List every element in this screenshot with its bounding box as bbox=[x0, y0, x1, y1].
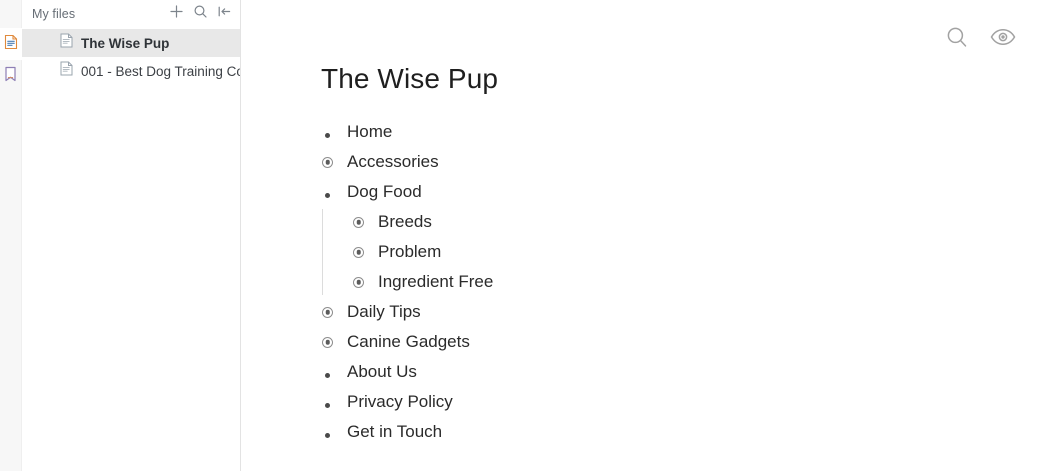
file-icon bbox=[60, 61, 73, 81]
eye-icon bbox=[990, 27, 1016, 52]
bullet-ring-icon bbox=[321, 307, 347, 318]
list-item-label: Problem bbox=[378, 237, 441, 267]
file-name: 001 - Best Dog Training Co bbox=[81, 64, 240, 79]
bullet-dot-icon bbox=[321, 133, 347, 138]
plus-icon bbox=[169, 4, 184, 24]
collapse-panel-icon bbox=[217, 4, 232, 24]
list-item-label: Home bbox=[347, 117, 392, 147]
sidebar-actions bbox=[168, 6, 232, 22]
bullet-dot-icon bbox=[321, 373, 347, 378]
collapse-sidebar-button[interactable] bbox=[216, 6, 232, 22]
list-item[interactable]: Home bbox=[321, 117, 1060, 147]
list-item-label: Accessories bbox=[347, 147, 439, 177]
list-item-label: Privacy Policy bbox=[347, 387, 453, 417]
bullet-dot-icon bbox=[321, 403, 347, 408]
list-item[interactable]: Breeds bbox=[352, 207, 1060, 237]
search-icon bbox=[193, 4, 208, 24]
search-icon bbox=[945, 25, 969, 54]
file-name: The Wise Pup bbox=[81, 36, 169, 51]
list-item-label: Get in Touch bbox=[347, 417, 442, 447]
document-body: The Wise Pup Home Accessories Dog Food bbox=[241, 0, 1060, 447]
bullet-ring-icon bbox=[352, 217, 378, 228]
file-icon bbox=[60, 33, 73, 53]
list-item[interactable]: Accessories bbox=[321, 147, 1060, 177]
search-files-button[interactable] bbox=[192, 6, 208, 22]
bullet-ring-icon bbox=[321, 337, 347, 348]
list-item-label: Dog Food bbox=[347, 177, 422, 207]
icon-rail bbox=[0, 0, 22, 471]
outline-list: Home Accessories Dog Food Breeds bbox=[321, 117, 1060, 447]
list-item[interactable]: Privacy Policy bbox=[321, 387, 1060, 417]
file-list: The Wise Pup 001 - Best Dog Training Co bbox=[22, 27, 240, 85]
bullet-ring-icon bbox=[321, 157, 347, 168]
list-item-label: Ingredient Free bbox=[378, 267, 493, 297]
file-item-the-wise-pup[interactable]: The Wise Pup bbox=[22, 29, 240, 57]
page-title: The Wise Pup bbox=[321, 62, 1060, 96]
list-item-label: Canine Gadgets bbox=[347, 327, 470, 357]
rail-item-files[interactable] bbox=[0, 28, 22, 60]
list-item[interactable]: Ingredient Free bbox=[352, 267, 1060, 297]
nested-outline-list: Breeds Problem Ingredient Free bbox=[321, 207, 1060, 297]
search-document-button[interactable] bbox=[944, 26, 970, 52]
bullet-ring-icon bbox=[352, 247, 378, 258]
app-window: My files bbox=[0, 0, 1060, 471]
editor-toolbar bbox=[944, 26, 1016, 52]
document-icon bbox=[4, 34, 18, 55]
bullet-dot-icon bbox=[321, 193, 347, 198]
bookmark-icon bbox=[4, 66, 17, 87]
bullet-ring-icon bbox=[352, 277, 378, 288]
preview-toggle-button[interactable] bbox=[990, 26, 1016, 52]
rail-item-bookmarks[interactable] bbox=[0, 60, 22, 92]
list-item-label: Daily Tips bbox=[347, 297, 421, 327]
list-item[interactable]: Problem bbox=[352, 237, 1060, 267]
sidebar-title: My files bbox=[32, 7, 168, 21]
add-file-button[interactable] bbox=[168, 6, 184, 22]
file-sidebar: My files bbox=[22, 0, 241, 471]
bullet-dot-icon bbox=[321, 433, 347, 438]
list-item[interactable]: Daily Tips bbox=[321, 297, 1060, 327]
editor-pane: The Wise Pup Home Accessories Dog Food bbox=[241, 0, 1060, 471]
list-item-label: Breeds bbox=[378, 207, 432, 237]
list-item[interactable]: Dog Food bbox=[321, 177, 1060, 207]
sidebar-header: My files bbox=[22, 0, 240, 27]
list-item-label: About Us bbox=[347, 357, 417, 387]
list-item[interactable]: Get in Touch bbox=[321, 417, 1060, 447]
list-item[interactable]: About Us bbox=[321, 357, 1060, 387]
file-item-001-best-dog-training-co[interactable]: 001 - Best Dog Training Co bbox=[22, 57, 240, 85]
list-item[interactable]: Canine Gadgets bbox=[321, 327, 1060, 357]
